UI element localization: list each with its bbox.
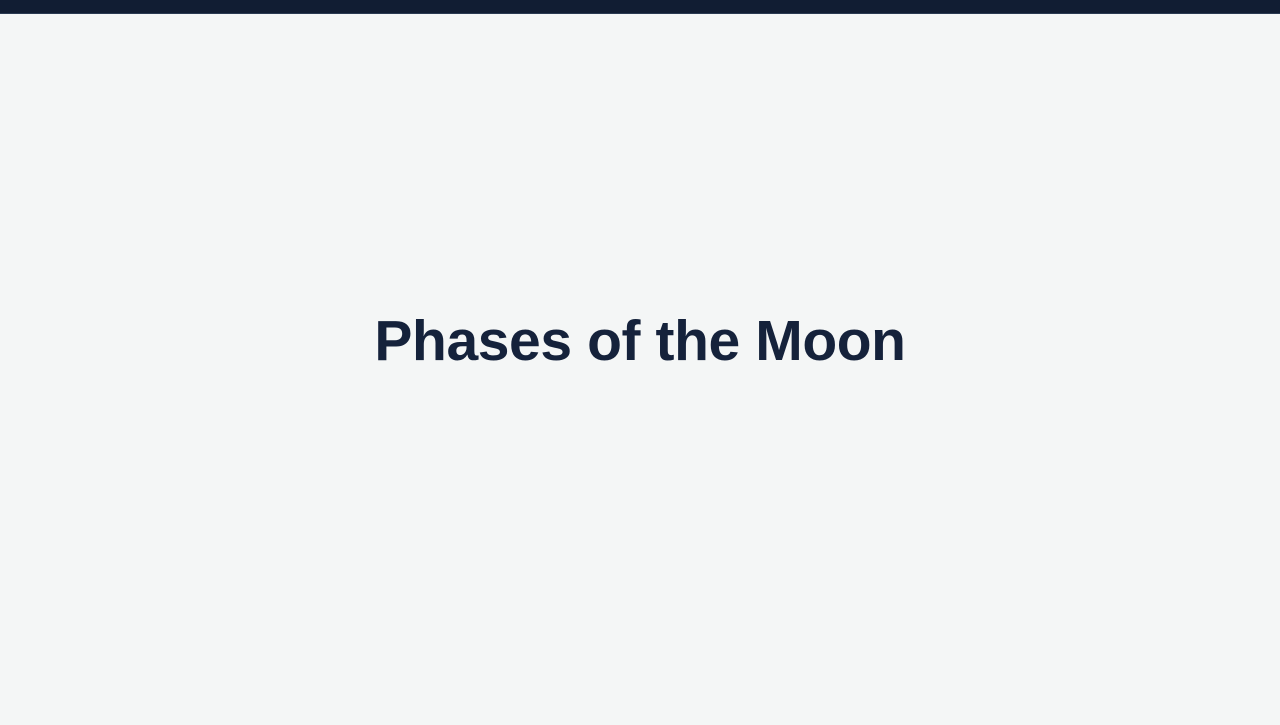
main-content-inner: Phases of the Moon: [0, 14, 1280, 725]
page-root: Phases of the Moon: [0, 0, 1280, 725]
site-header-bar: [0, 0, 1280, 14]
content-region-above-title: [0, 14, 1280, 308]
content-region-below-title: [0, 394, 1280, 725]
page-title: Phases of the Moon: [0, 308, 1280, 375]
site-header-inner: [0, 0, 1280, 13]
main-content: Phases of the Moon: [0, 14, 1280, 725]
